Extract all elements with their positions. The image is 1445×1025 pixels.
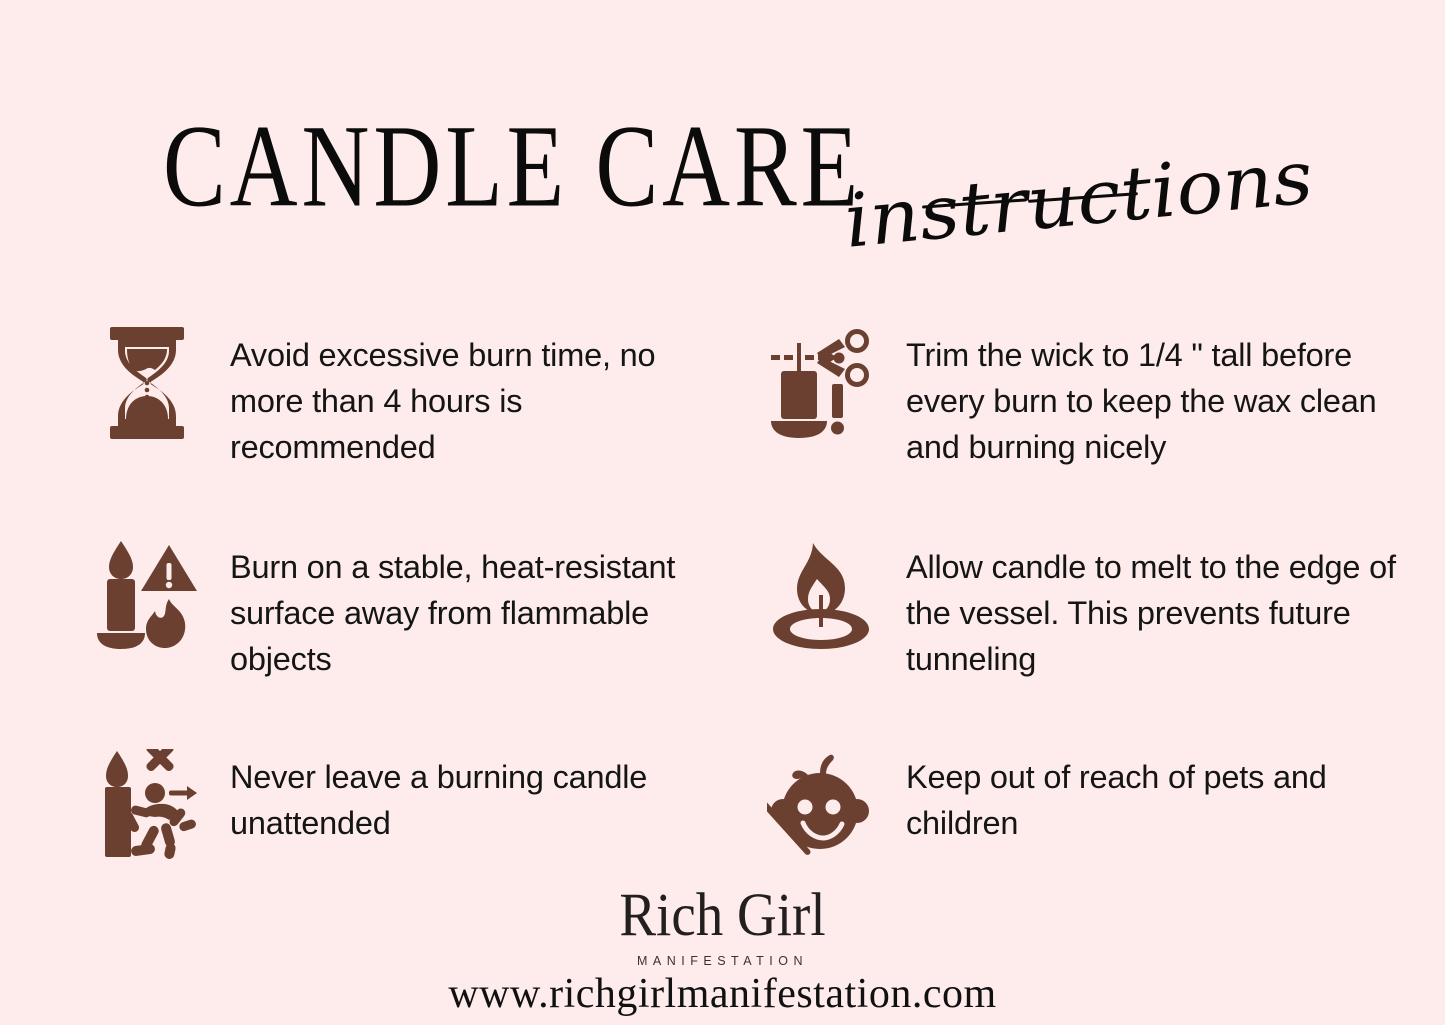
tip-text: Trim the wick to 1/4 " tall before every… <box>880 320 1402 470</box>
brand-logo: Rich Girl MANIFESTATION <box>0 887 1445 968</box>
tip-text: Keep out of reach of pets and children <box>880 742 1402 846</box>
tip-text: Allow candle to melt to the edge of the … <box>880 532 1402 682</box>
hourglass-icon <box>88 320 206 445</box>
candle-unattended-running-person-icon <box>88 742 206 867</box>
tip-item: Burn on a stable, heat-resistant surface… <box>88 532 688 682</box>
tip-text: Never leave a burning candle unattended <box>206 742 688 846</box>
footer: Rich Girl MANIFESTATION www.richgirlmani… <box>0 865 1445 1025</box>
tip-text: Burn on a stable, heat-resistant surface… <box>206 532 688 682</box>
tip-text: Avoid excessive burn time, no more than … <box>206 320 688 470</box>
tip-item: Keep out of reach of pets and children <box>762 742 1402 867</box>
candle-warning-flammable-icon <box>88 532 206 657</box>
tip-item: Allow candle to melt to the edge of the … <box>762 532 1402 682</box>
website-url: www.richgirlmanifestation.com <box>0 973 1445 1015</box>
tip-item: Trim the wick to 1/4 " tall before every… <box>762 320 1402 470</box>
tip-item: Avoid excessive burn time, no more than … <box>88 320 688 470</box>
brand-tagline: MANIFESTATION <box>0 954 1445 968</box>
melting-tealight-flame-icon <box>762 532 880 657</box>
page-subtitle-script: instructions <box>841 140 1315 259</box>
wick-trim-scissors-icon <box>762 320 880 445</box>
header: CANDLE CARE instructions <box>0 0 1445 300</box>
page-title: CANDLE CARE <box>163 108 862 225</box>
no-baby-pets-icon <box>762 742 880 867</box>
brand-name: Rich Girl <box>619 884 825 946</box>
candle-care-card: CANDLE CARE instructions Avoid excess <box>0 0 1445 1025</box>
tip-item: Never leave a burning candle unattended <box>88 742 688 867</box>
